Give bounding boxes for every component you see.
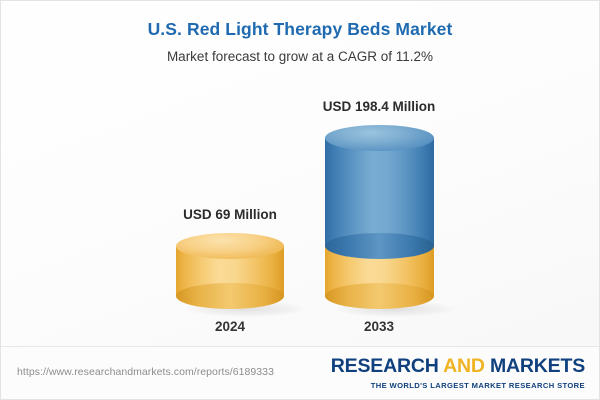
cylinder-2033[interactable] bbox=[325, 125, 434, 309]
cylinder-top-2024 bbox=[176, 233, 284, 259]
logo-word-research: RESEARCH bbox=[331, 355, 439, 377]
logo-word-markets: MARKETS bbox=[490, 355, 585, 377]
value-label-2033: USD 198.4 Million bbox=[269, 99, 489, 114]
report-url[interactable]: https://www.researchandmarkets.com/repor… bbox=[17, 366, 274, 378]
chart-plot-area: USD 69 Million 2024 USD 198.4 Million bbox=[1, 1, 600, 349]
chart-card: U.S. Red Light Therapy Beds Market Marke… bbox=[0, 0, 600, 400]
chart-footer: https://www.researchandmarkets.com/repor… bbox=[1, 346, 599, 399]
logo-word-and: AND bbox=[443, 355, 485, 377]
cylinder-bottom-2033 bbox=[325, 283, 434, 309]
research-and-markets-logo[interactable]: RESEARCH AND MARKETS THE WORLD'S LARGEST… bbox=[331, 357, 585, 390]
cylinder-segment-divider-2033 bbox=[325, 233, 434, 259]
logo-tagline: THE WORLD'S LARGEST MARKET RESEARCH STOR… bbox=[331, 381, 585, 390]
cylinder-top-2033 bbox=[325, 125, 434, 151]
logo-wordmark: RESEARCH AND MARKETS bbox=[331, 357, 585, 377]
value-label-2024: USD 69 Million bbox=[120, 207, 340, 222]
cylinder-body-2033-growth bbox=[325, 138, 434, 246]
cylinder-bottom-2024 bbox=[176, 283, 284, 309]
category-label-2033: 2033 bbox=[269, 319, 489, 334]
cylinder-2024[interactable] bbox=[176, 233, 284, 309]
